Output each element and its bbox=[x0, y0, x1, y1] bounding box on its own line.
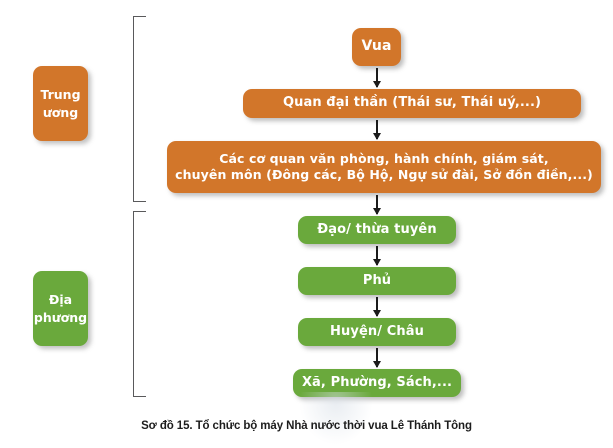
node-vua: Vua bbox=[352, 28, 401, 66]
side-label-dia-phuong-line1: Địa bbox=[49, 291, 72, 308]
node-huyen-chau: Huyện/ Châu bbox=[298, 318, 456, 346]
node-quan-dai-than: Quan đại thần (Thái sư, Thái uý,...) bbox=[243, 89, 581, 118]
node-co-quan-chuyen-mon: Các cơ quan văn phòng, hành chính, giám … bbox=[167, 141, 601, 193]
connector-dao-thua-tuyen-to-phu bbox=[376, 246, 377, 265]
node-co-quan-chuyen-mon-line2: chuyên môn (Đông các, Bộ Hộ, Ngự sử đài,… bbox=[175, 167, 593, 183]
side-label-dia-phuong-line2: phương bbox=[34, 309, 87, 326]
node-xa-phuong-sach: Xã, Phường, Sách,... bbox=[293, 369, 461, 397]
node-co-quan-chuyen-mon-line1: Các cơ quan văn phòng, hành chính, giám … bbox=[219, 151, 549, 167]
node-vua-label: Vua bbox=[361, 38, 391, 56]
diagram-caption: Sơ đồ 15. Tổ chức bộ máy Nhà nước thời v… bbox=[0, 420, 613, 432]
node-dao-thua-tuyen-label: Đạo/ thừa tuyên bbox=[317, 222, 436, 239]
scan-watermark bbox=[300, 392, 372, 444]
connector-vua-to-quan-dai-than bbox=[376, 68, 377, 87]
side-label-trung-uong-line2: ương bbox=[43, 104, 78, 121]
organization-chart: Trung ương Địa phương Vua Quan đại thần … bbox=[0, 0, 613, 448]
connector-co-quan-to-dao-thua-tuyen bbox=[376, 195, 377, 214]
connector-phu-to-huyen-chau bbox=[376, 297, 377, 316]
node-dao-thua-tuyen: Đạo/ thừa tuyên bbox=[298, 216, 456, 244]
connector-huyen-chau-to-xa-phuong-sach bbox=[376, 348, 377, 367]
bracket-central bbox=[133, 16, 146, 202]
node-quan-dai-than-label: Quan đại thần (Thái sư, Thái uý,...) bbox=[283, 95, 541, 112]
node-phu: Phủ bbox=[298, 267, 456, 295]
node-phu-label: Phủ bbox=[363, 273, 391, 290]
node-huyen-chau-label: Huyện/ Châu bbox=[330, 324, 424, 341]
bracket-local bbox=[133, 211, 146, 397]
side-label-trung-uong-line1: Trung bbox=[40, 86, 80, 103]
node-xa-phuong-sach-label: Xã, Phường, Sách,... bbox=[302, 375, 452, 392]
connector-quan-dai-than-to-co-quan bbox=[376, 120, 377, 139]
side-label-trung-uong: Trung ương bbox=[33, 66, 88, 141]
side-label-dia-phuong: Địa phương bbox=[33, 271, 88, 346]
